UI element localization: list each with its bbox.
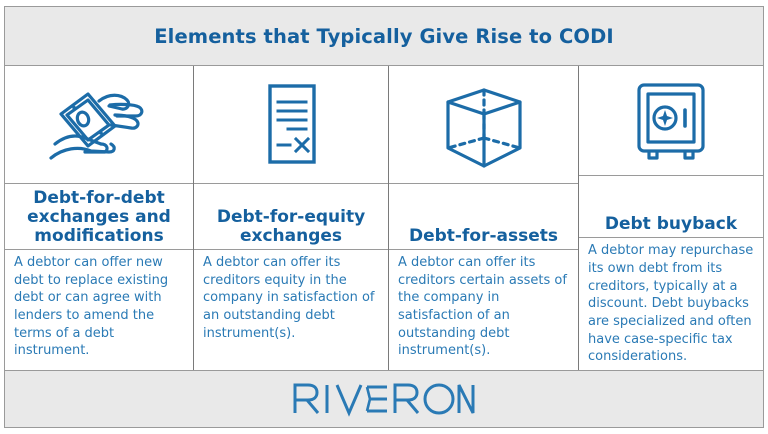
icon-cell <box>5 66 193 184</box>
hand-giving-money-icon <box>39 82 159 168</box>
icon-cell <box>194 66 388 184</box>
riveron-logo <box>291 383 477 415</box>
title-cell: Debt buyback <box>579 176 763 238</box>
title-cell: Debt-for-debt exchanges and modification… <box>5 184 193 250</box>
card-title: Debt buyback <box>585 215 757 234</box>
card-body: A debtor can offer new debt to replace e… <box>14 254 185 360</box>
document-with-x-signature-icon <box>254 80 328 170</box>
columns-grid: Debt-for-debt exchanges and modification… <box>4 66 764 371</box>
page-title: Elements that Typically Give Rise to COD… <box>154 25 613 48</box>
title-cell: Debt-for-equity exchanges <box>194 184 388 250</box>
column-debt-buyback: Debt buyback A debtor may repurchase its… <box>579 66 763 370</box>
body-cell: A debtor can offer its creditors equity … <box>194 250 388 370</box>
header-band: Elements that Typically Give Rise to COD… <box>4 6 764 66</box>
body-cell: A debtor can offer new debt to replace e… <box>5 250 193 370</box>
body-cell: A debtor can offer its creditors certain… <box>389 250 578 370</box>
card-title: Debt-for-equity exchanges <box>200 208 382 246</box>
card-title: Debt-for-debt exchanges and modification… <box>11 189 187 246</box>
icon-cell <box>579 66 763 176</box>
card-body: A debtor may repurchase its own debt fro… <box>588 242 755 366</box>
column-debt-for-debt: Debt-for-debt exchanges and modification… <box>5 66 194 370</box>
icon-cell <box>389 66 578 184</box>
footer-band <box>4 371 764 428</box>
body-cell: A debtor may repurchase its own debt fro… <box>579 238 763 370</box>
safe-vault-icon <box>627 77 715 165</box>
codi-infographic: Elements that Typically Give Rise to COD… <box>0 0 768 434</box>
card-title: Debt-for-assets <box>395 227 572 246</box>
wireframe-cube-icon <box>438 80 530 170</box>
card-body: A debtor can offer its creditors equity … <box>203 254 380 342</box>
card-body: A debtor can offer its creditors certain… <box>398 254 570 360</box>
column-debt-for-equity: Debt-for-equity exchanges A debtor can o… <box>194 66 389 370</box>
column-debt-for-assets: Debt-for-assets A debtor can offer its c… <box>389 66 579 370</box>
title-cell: Debt-for-assets <box>389 184 578 250</box>
